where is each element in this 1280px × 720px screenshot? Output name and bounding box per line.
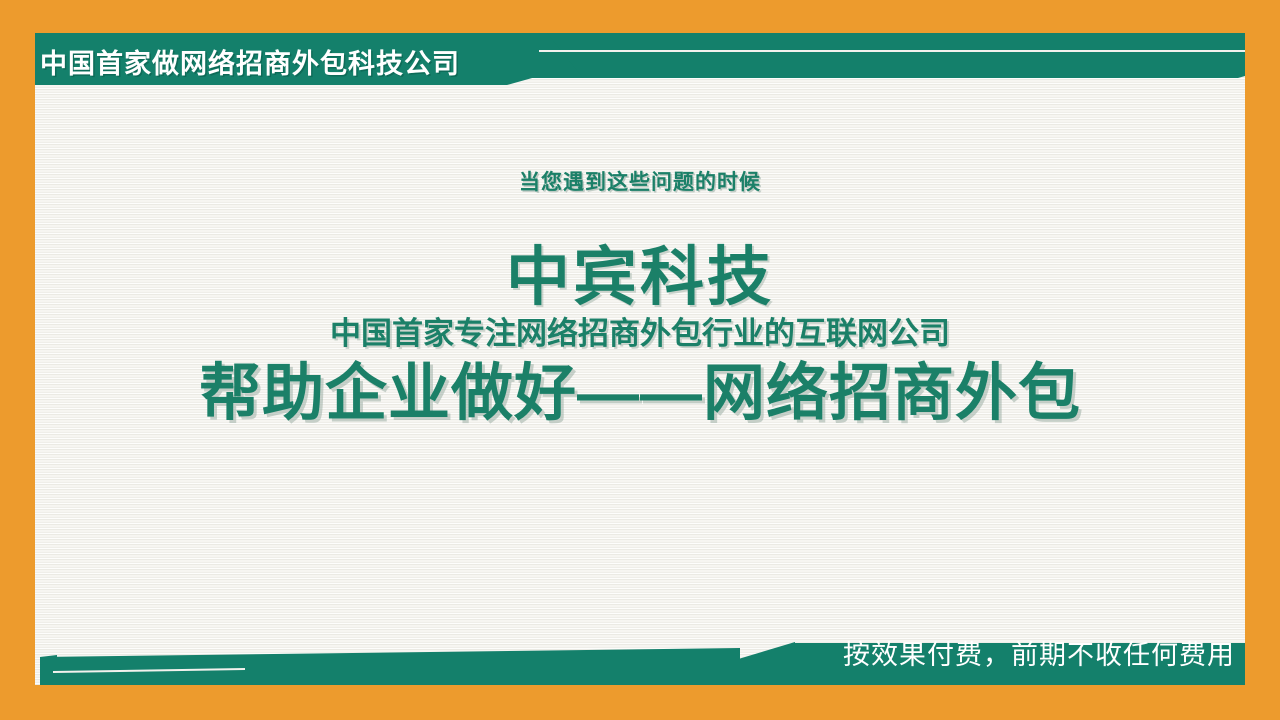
tagline-text: 中国首家专注网络招商外包行业的互联网公司 (35, 318, 1245, 349)
footer-hairline (53, 668, 245, 673)
presentation-slide: 中国首家做网络招商外包科技公司 当您遇到这些问题的时候 中宾科技 中国首家专注网… (0, 0, 1280, 720)
header-block-left-lower-shape (35, 73, 550, 85)
headline-text: 帮助企业做好——网络招商外包 (35, 363, 1245, 425)
footer-left-shape (40, 648, 740, 685)
eyebrow-text: 当您遇到这些问题的时候 (35, 166, 1245, 196)
header-block-left-shape (35, 33, 583, 78)
footer-left-tip-shape (40, 655, 57, 685)
brand-name: 中宾科技 (35, 245, 1245, 309)
header-banner: 中国首家做网络招商外包科技公司 (35, 33, 1245, 88)
footer-text: 按效果付费，前期不收任何费用 (843, 633, 1235, 672)
header-bar-right-shape (35, 33, 1245, 78)
footer-right-shape (792, 643, 1245, 685)
footer-step-shape (735, 642, 795, 685)
header-title: 中国首家做网络招商外包科技公司 (40, 42, 460, 81)
header-hairline (539, 50, 1245, 52)
slide-paper-background: 中国首家做网络招商外包科技公司 当您遇到这些问题的时候 中宾科技 中国首家专注网… (35, 33, 1245, 685)
footer-banner: 按效果付费，前期不收任何费用 (35, 615, 1245, 685)
